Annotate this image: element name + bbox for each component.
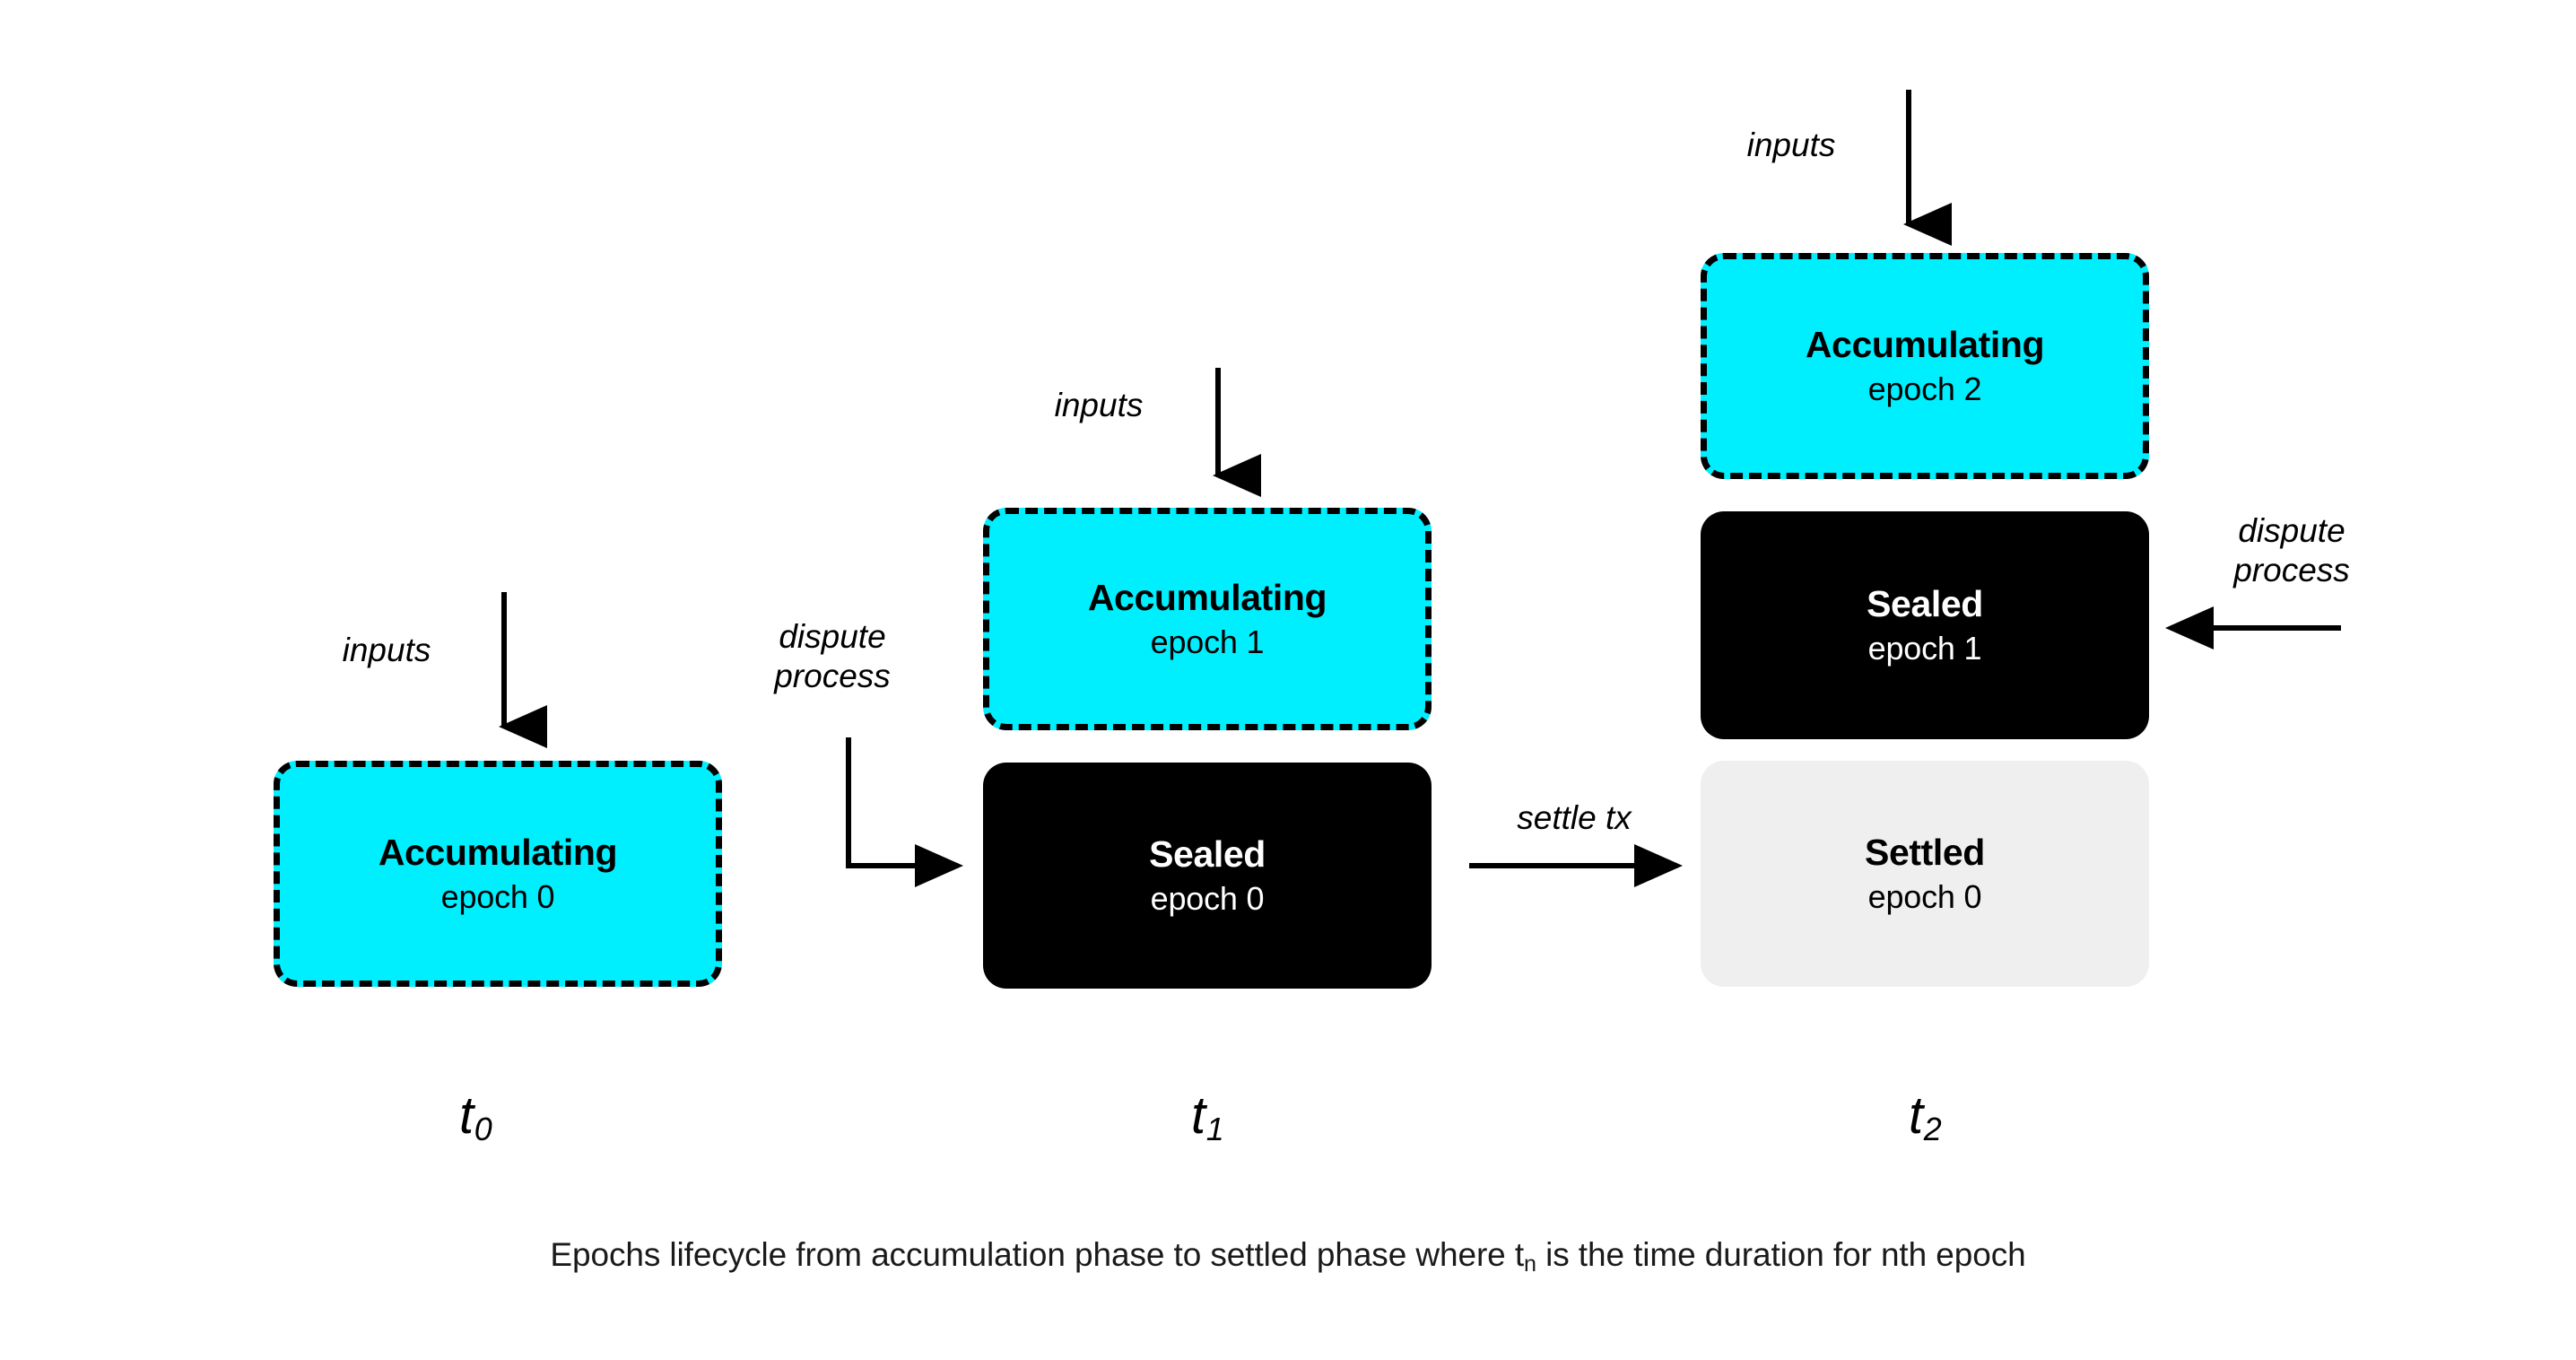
state-epoch: epoch 0 bbox=[1868, 879, 1982, 915]
state-title: Accumulating bbox=[379, 833, 617, 874]
state-title: Settled bbox=[1865, 833, 1985, 874]
arrow-label-settle-tx: settle tx bbox=[1462, 798, 1686, 838]
time-label-subscript: 1 bbox=[1206, 1111, 1224, 1147]
caption-subscript: n bbox=[1524, 1251, 1536, 1277]
state-epoch: epoch 1 bbox=[1868, 631, 1982, 667]
arrow-label-dispute-t0-t1: dispute process bbox=[743, 617, 922, 695]
state-box-settled-epoch0[interactable]: Settled epoch 0 bbox=[1701, 761, 2149, 987]
arrow-dispute-t0-t1 bbox=[849, 737, 958, 866]
caption-lead: Epochs lifecycle from accumulation phase… bbox=[550, 1236, 1524, 1273]
state-box-accumulating-epoch0[interactable]: Accumulating epoch 0 bbox=[274, 761, 722, 987]
time-label-letter: t bbox=[459, 1086, 474, 1145]
time-label-t1: t1 bbox=[1118, 1085, 1297, 1146]
state-title: Accumulating bbox=[1806, 325, 2044, 366]
time-label-letter: t bbox=[1191, 1086, 1205, 1145]
state-epoch: epoch 0 bbox=[441, 879, 555, 915]
arrow-label-inputs-t1: inputs bbox=[1023, 386, 1175, 425]
state-epoch: epoch 0 bbox=[1151, 881, 1265, 917]
arrow-label-inputs-t0: inputs bbox=[310, 631, 463, 670]
state-epoch: epoch 2 bbox=[1868, 371, 1982, 407]
diagram-canvas: inputs dispute process inputs settle tx … bbox=[0, 0, 2576, 1360]
arrow-label-inputs-t2: inputs bbox=[1715, 126, 1867, 165]
state-title: Sealed bbox=[1867, 584, 1983, 625]
time-label-subscript: 0 bbox=[474, 1111, 492, 1147]
state-box-sealed-epoch0[interactable]: Sealed epoch 0 bbox=[983, 763, 1432, 989]
diagram-caption: Epochs lifecycle from accumulation phase… bbox=[0, 1236, 2576, 1274]
caption-tail: is the time duration for nth epoch bbox=[1536, 1236, 2026, 1273]
state-box-accumulating-epoch2[interactable]: Accumulating epoch 2 bbox=[1701, 253, 2149, 479]
state-title: Accumulating bbox=[1088, 578, 1327, 619]
time-label-letter: t bbox=[1909, 1086, 1923, 1145]
time-label-t2: t2 bbox=[1835, 1085, 2015, 1146]
state-title: Sealed bbox=[1149, 834, 1266, 876]
arrow-label-dispute-t2: dispute process bbox=[2180, 511, 2404, 589]
state-box-sealed-epoch1[interactable]: Sealed epoch 1 bbox=[1701, 511, 2149, 739]
state-epoch: epoch 1 bbox=[1151, 624, 1265, 660]
time-label-subscript: 2 bbox=[1924, 1111, 1942, 1147]
state-box-accumulating-epoch1[interactable]: Accumulating epoch 1 bbox=[983, 508, 1432, 730]
time-label-t0: t0 bbox=[386, 1085, 565, 1146]
